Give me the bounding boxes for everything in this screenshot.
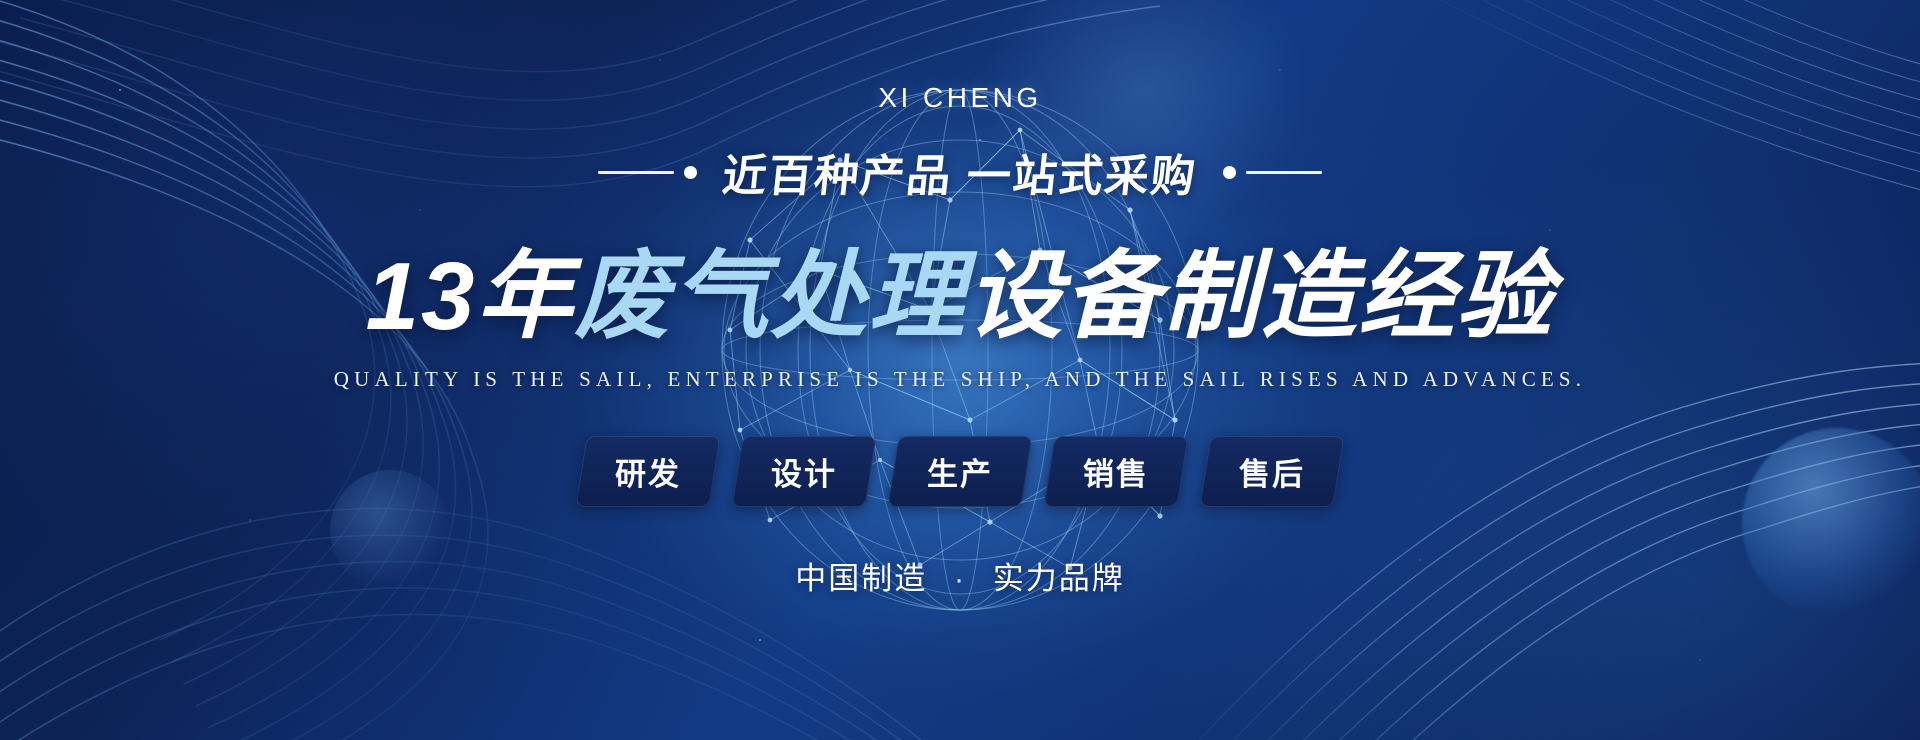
badge-label: 设计 [771,449,837,494]
headline-accent: 废气处理 [574,218,966,357]
english-tagline: QUALITY IS THE SAIL, ENTERPRISE IS THE S… [334,367,1587,392]
service-badge-list: 研发 设计 生产 销售 售后 [581,436,1339,507]
headline-years: 13年 [366,218,575,357]
headline-tail: 设备制造经验 [966,218,1554,357]
decoration-dot [684,166,697,179]
badge-label: 研发 [615,449,681,494]
brand-name-english: XI CHENG [878,82,1041,114]
badge-label: 生产 [927,449,993,494]
decoration-dot [1223,166,1236,179]
badge-label: 售后 [1239,449,1305,494]
decoration-bar [598,171,674,174]
footer-slogan-left: 中国制造 [795,561,927,596]
right-line-dot-decoration [1223,166,1322,179]
badge-label: 销售 [1083,449,1149,494]
badge-sales[interactable]: 销售 [1043,436,1188,507]
footer-slogan-right: 实力品牌 [993,561,1125,596]
badge-design[interactable]: 设计 [731,436,876,507]
badge-production[interactable]: 生产 [887,436,1032,507]
badge-rd[interactable]: 研发 [575,436,720,507]
subtitle-row: 近百种产品 一站式采购 [598,140,1322,204]
banner-subtitle: 近百种产品 一站式采购 [720,140,1201,204]
banner-content: XI CHENG 近百种产品 一站式采购 13年 废气处理 设备制造经验 QUA… [0,0,1920,740]
hero-banner: XI CHENG 近百种产品 一站式采购 13年 废气处理 设备制造经验 QUA… [0,0,1920,740]
footer-slogan: 中国制造 · 实力品牌 [795,553,1125,598]
banner-headline: 13年 废气处理 设备制造经验 [366,218,1555,357]
left-line-dot-decoration [598,166,697,179]
badge-after-sales[interactable]: 售后 [1199,436,1344,507]
decoration-bar [1246,171,1322,174]
footer-slogan-separator: · [954,561,966,596]
